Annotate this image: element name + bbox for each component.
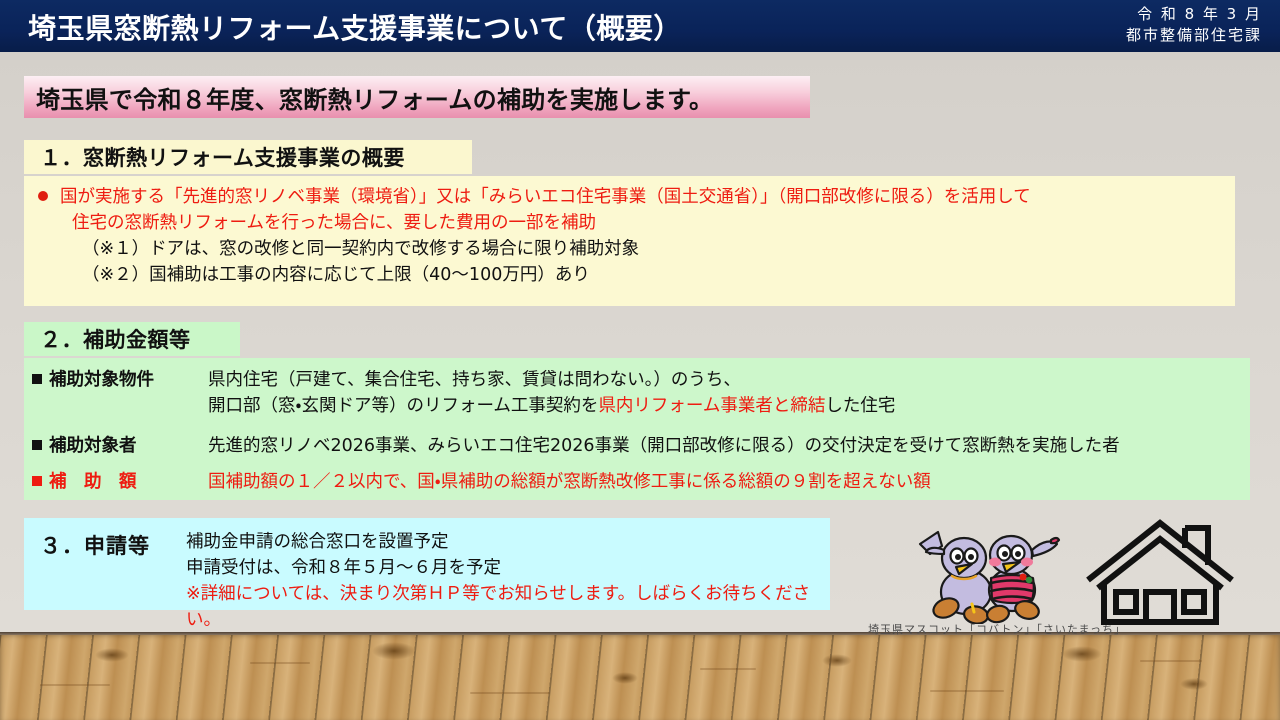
section1-line2: 住宅の窓断熱リフォームを行った場合に、要した費用の一部を補助 xyxy=(38,210,1228,236)
section1-tab-label: １．窓断熱リフォーム支援事業の概要 xyxy=(40,142,405,172)
section2-tab: ２．補助金額等 xyxy=(24,322,240,356)
header-meta: 令 和 8 年 3 月 都市整備部住宅課 xyxy=(1126,4,1262,46)
header-date: 令 和 8 年 3 月 xyxy=(1126,4,1262,25)
section2-row-recipient-value: 先進的窓リノベ2026事業、みらいエコ住宅2026事業（開口部改修に限る）の交付… xyxy=(208,433,1247,459)
section2-row-property-label: 補助対象物件 xyxy=(32,367,208,393)
wood-floor-image xyxy=(0,632,1280,720)
section2-body: 補助対象物件 県内住宅（戸建て、集合住宅、持ち家、賃貸は問わない。）のうち、 開… xyxy=(32,367,1247,495)
section1-panel: 国が実施する「先進的窓リノベ事業（環境省）」又は「みらいエコ住宅事業（国土交通省… xyxy=(24,176,1235,306)
saitama-mascots-illustration xyxy=(912,520,1072,624)
header-department: 都市整備部住宅課 xyxy=(1126,25,1262,46)
section3-panel: ３．申請等 補助金申請の総合窓口を設置予定 申請受付は、令和８年５月〜６月を予定… xyxy=(24,518,830,610)
slide-canvas: 埼玉県窓断熱リフォーム支援事業について（概要） 令 和 8 年 3 月 都市整備… xyxy=(0,0,1280,720)
section3-body: 補助金申請の総合窓口を設置予定 申請受付は、令和８年５月〜６月を予定 ※詳細につ… xyxy=(186,529,830,633)
section3-line1: 補助金申請の総合窓口を設置予定 xyxy=(186,529,830,555)
page-title: 埼玉県窓断熱リフォーム支援事業について（概要） xyxy=(28,7,682,47)
section2-row-property: 補助対象物件 県内住宅（戸建て、集合住宅、持ち家、賃貸は問わない。）のうち、 開… xyxy=(32,367,1247,419)
section1-note1: （※１）ドアは、窓の改修と同一契約内で改修する場合に限り補助対象 xyxy=(38,236,1228,262)
square-bullet-icon xyxy=(32,476,42,486)
section2-panel: 補助対象物件 県内住宅（戸建て、集合住宅、持ち家、賃貸は問わない。）のうち、 開… xyxy=(24,358,1250,500)
mascot-caption: 埼玉県マスコット「コバトン」「さいたまっち」 xyxy=(868,621,1118,637)
section3-line3: ※詳細については、決まり次第ＨＰ等でお知らせします。しばらくお待ちください。 xyxy=(186,581,830,633)
section1-body: 国が実施する「先進的窓リノベ事業（環境省）」又は「みらいエコ住宅事業（国土交通省… xyxy=(38,184,1228,288)
section2-row-amount-label: 補 助 額 xyxy=(32,469,208,495)
section2-tab-label: ２．補助金額等 xyxy=(40,324,191,354)
section3-line2: 申請受付は、令和８年５月〜６月を予定 xyxy=(186,555,830,581)
section2-row-property-value-highlight: 県内リフォーム事業者と締結 xyxy=(598,396,825,416)
section2-row-amount: 補 助 額 国補助額の１／２以内で、国・県補助の総額が窓断熱改修工事に係る総額の… xyxy=(32,469,1247,495)
section2-row-property-value-line2: 開口部（窓・玄関ドア等）のリフォーム工事契約を県内リフォーム事業者と締結した住宅 xyxy=(208,393,1247,419)
section2-row-property-label-text: 補助対象物件 xyxy=(49,370,154,390)
house-illustration xyxy=(1082,518,1238,626)
section2-row-property-value-line2-b: した住宅 xyxy=(825,396,895,416)
section1-note2: （※２）国補助は工事の内容に応じて上限（40〜100万円）あり xyxy=(38,262,1228,288)
section1-line1: 国が実施する「先進的窓リノベ事業（環境省）」又は「みらいエコ住宅事業（国土交通省… xyxy=(60,187,1031,207)
section1-line1-row: 国が実施する「先進的窓リノベ事業（環境省）」又は「みらいエコ住宅事業（国土交通省… xyxy=(38,184,1228,210)
section2-row-property-value-line1: 県内住宅（戸建て、集合住宅、持ち家、賃貸は問わない。）のうち、 xyxy=(208,367,1247,393)
section2-row-property-value: 県内住宅（戸建て、集合住宅、持ち家、賃貸は問わない。）のうち、 開口部（窓・玄関… xyxy=(208,367,1247,419)
banner-text: 埼玉県で令和８年度、窓断熱リフォームの補助を実施します。 xyxy=(24,80,713,115)
section2-row-amount-label-text: 補 助 額 xyxy=(49,472,137,492)
header-bar: 埼玉県窓断熱リフォーム支援事業について（概要） 令 和 8 年 3 月 都市整備… xyxy=(0,0,1280,52)
section2-row-amount-value: 国補助額の１／２以内で、国・県補助の総額が窓断熱改修工事に係る総額の９割を超えな… xyxy=(208,469,1247,495)
square-bullet-icon xyxy=(32,374,42,384)
bullet-dot-icon xyxy=(38,191,48,201)
highlight-banner: 埼玉県で令和８年度、窓断熱リフォームの補助を実施します。 xyxy=(24,76,810,118)
section2-row-recipient: 補助対象者 先進的窓リノベ2026事業、みらいエコ住宅2026事業（開口部改修に… xyxy=(32,433,1247,459)
section2-row-recipient-label-text: 補助対象者 xyxy=(49,436,137,456)
square-bullet-icon xyxy=(32,440,42,450)
section2-row-property-value-line2-a: 開口部（窓・玄関ドア等）のリフォーム工事契約を xyxy=(208,396,598,416)
section2-row-recipient-label: 補助対象者 xyxy=(32,433,208,459)
section3-tab-label: ３．申請等 xyxy=(40,530,150,560)
section1-tab: １．窓断熱リフォーム支援事業の概要 xyxy=(24,140,472,174)
